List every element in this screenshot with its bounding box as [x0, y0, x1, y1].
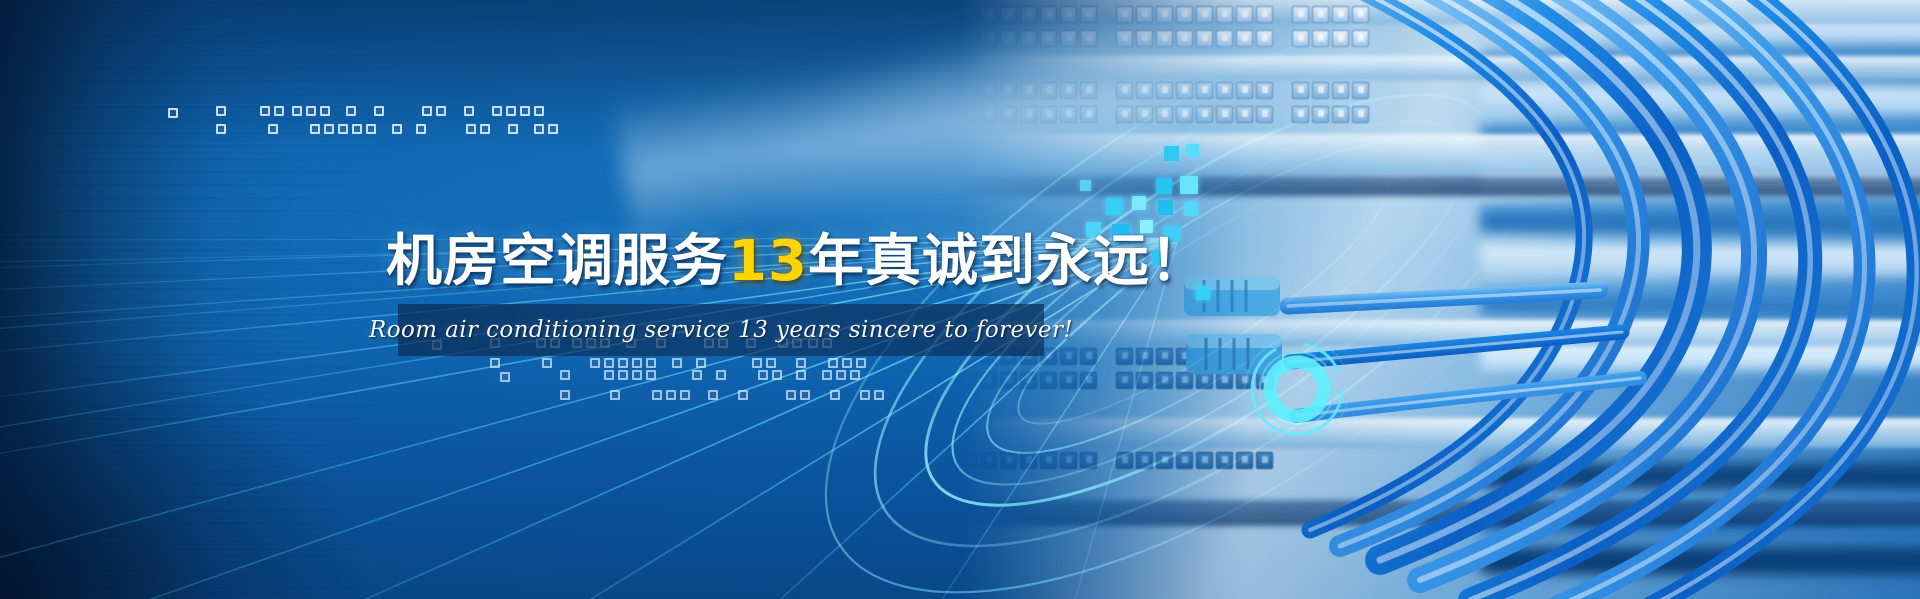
ethernet-cables [1170, 0, 1920, 599]
headline-part-before: 机房空调服务 [386, 229, 728, 294]
subtitle-band: Room air conditioning service 13 years s… [398, 304, 1044, 356]
subtitle-text: Room air conditioning service 13 years s… [369, 317, 1073, 343]
glow-ring-icon [1238, 330, 1356, 448]
headline-years-number: 13 [728, 229, 808, 294]
pixel-dots-upper [168, 104, 568, 144]
pixel-dots-lower-2 [500, 368, 900, 428]
promo-banner: 机房空调服务13年真诚到永远！ Room air conditioning se… [0, 0, 1920, 599]
page-title: 机房空调服务13年真诚到永远！ [386, 234, 1207, 290]
headline-part-after: 年真诚到永远！ [808, 229, 1207, 294]
